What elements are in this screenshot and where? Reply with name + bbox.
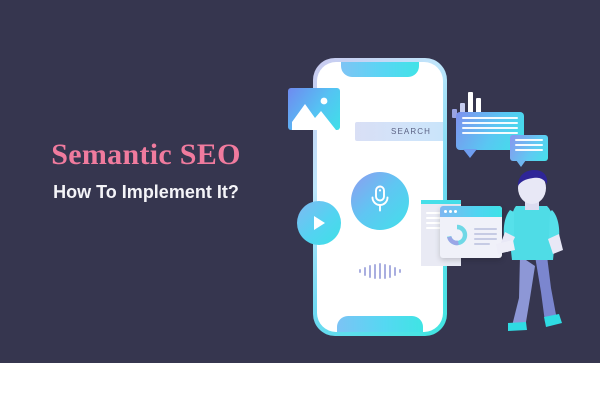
illustration-person-holding-document: [489, 170, 579, 340]
search-input[interactable]: SEARCH: [355, 127, 443, 136]
phone-home-indicator: [337, 316, 423, 332]
microphone-icon: [367, 184, 393, 219]
window-dot: [449, 210, 452, 213]
audio-waveform-icon: [359, 262, 401, 280]
page-title: Semantic SEO: [0, 138, 292, 171]
bottom-white-band: [0, 363, 600, 400]
search-bar[interactable]: SEARCH: [355, 122, 443, 141]
image-icon[interactable]: [288, 88, 340, 130]
chat-line: [462, 132, 518, 134]
poster-canvas: Semantic SEO How To Implement It? SEARCH: [0, 0, 600, 400]
page-subtitle: How To Implement It?: [0, 182, 292, 203]
chat-line: [515, 139, 543, 141]
donut-chart-icon: [445, 223, 469, 252]
headline-block: Semantic SEO How To Implement It?: [0, 138, 292, 203]
chat-line: [462, 117, 518, 119]
chat-bubble-icon[interactable]: [510, 135, 548, 161]
play-icon[interactable]: [297, 201, 341, 245]
voice-search-button[interactable]: [351, 172, 409, 230]
chat-line: [462, 127, 518, 129]
window-dot: [454, 210, 457, 213]
chat-line: [515, 144, 543, 146]
window-dot: [444, 210, 447, 213]
phone-notch: [341, 62, 419, 77]
chat-line: [462, 122, 518, 124]
chat-line: [515, 149, 543, 151]
